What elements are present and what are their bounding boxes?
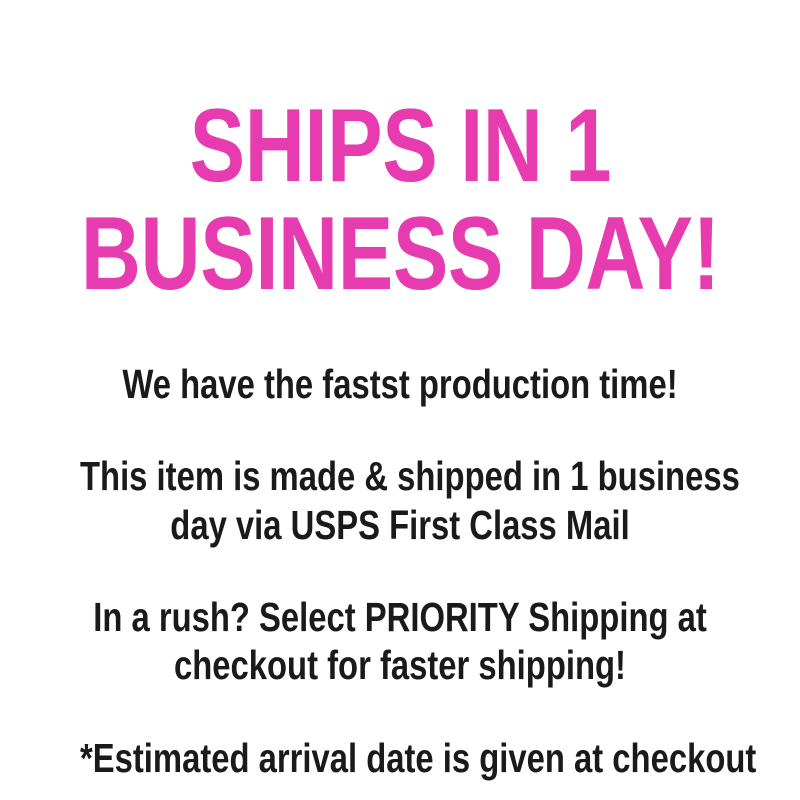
arrival-estimate-block: *Estimated arrival date is given at chec…	[0, 734, 800, 782]
production-time-line-1: We have the fastst production time!	[80, 360, 720, 408]
shipping-method-line-2: day via USPS First Class Mail	[80, 501, 720, 549]
shipping-method-block: This item is made & shipped in 1 busines…	[0, 452, 800, 549]
priority-upgrade-line-2: checkout for faster shipping!	[80, 641, 720, 689]
shipping-method-line-1: This item is made & shipped in 1 busines…	[80, 452, 720, 500]
priority-upgrade-line-1: In a rush? Select PRIORITY Shipping at	[80, 593, 720, 641]
arrival-estimate-line-1: *Estimated arrival date is given at chec…	[80, 734, 720, 782]
headline-line-2: BUSINESS DAY!	[81, 204, 720, 306]
shipping-info-graphic: SHIPS IN 1 BUSINESS DAY! We have the fas…	[0, 0, 800, 800]
priority-upgrade-block: In a rush? Select PRIORITY Shipping at c…	[0, 593, 800, 690]
headline: SHIPS IN 1 BUSINESS DAY!	[1, 96, 800, 306]
production-time-block: We have the fastst production time!	[0, 360, 800, 408]
headline-line-1: SHIPS IN 1	[81, 96, 720, 198]
